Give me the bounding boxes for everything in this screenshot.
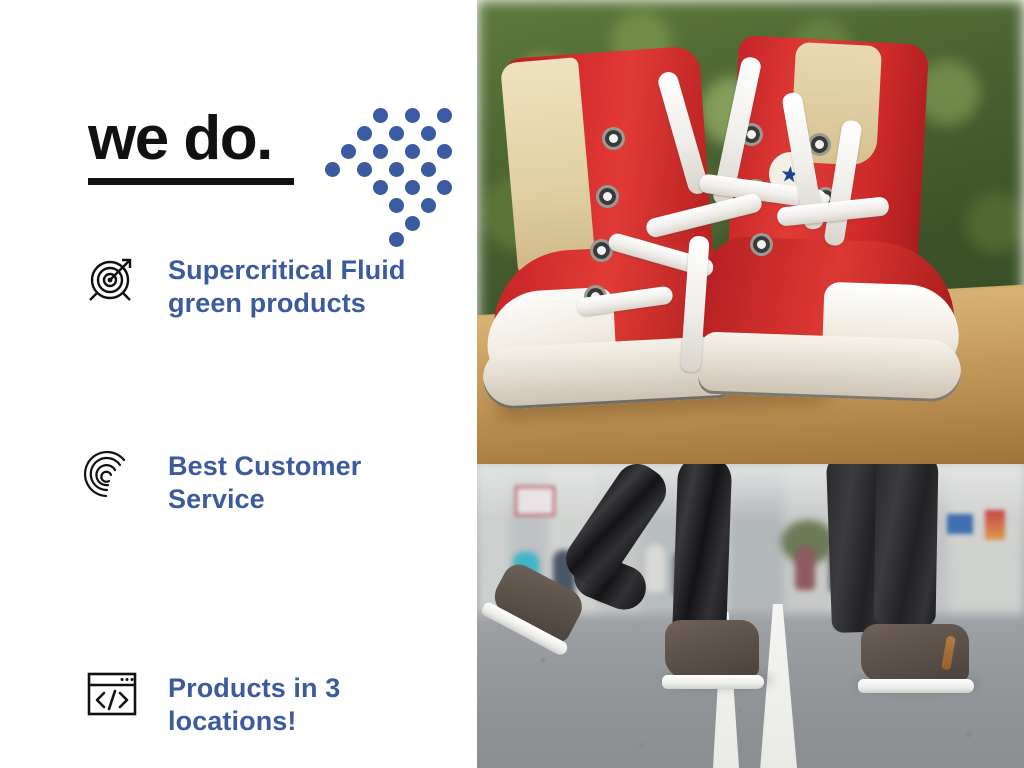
pedestrian-blur <box>645 544 665 592</box>
feature-label-line: Service <box>168 483 361 516</box>
brand-underline <box>88 178 294 185</box>
red-banner-blur <box>985 510 1005 540</box>
feature-label-line: locations! <box>168 705 340 738</box>
feature-label-line: Products in 3 <box>168 672 340 705</box>
target-arrow-icon <box>82 248 142 308</box>
red-sneakers-photo: ★ <box>477 0 1024 464</box>
blue-street-sign-blur <box>947 514 973 534</box>
dot-arrow-logo-icon <box>329 104 454 229</box>
feature-row: Supercritical Fluid green products <box>82 248 472 320</box>
brand-block: we do. <box>88 108 458 218</box>
feature-row: Products in 3 locations! <box>82 664 472 738</box>
feature-label-line: Supercritical Fluid <box>168 254 405 287</box>
feature-row: Best Customer Service <box>82 444 472 516</box>
ear-soundwave-icon <box>82 444 142 504</box>
media-column: ★ <box>477 0 1024 768</box>
pedestrian-blur <box>795 546 815 590</box>
grey-sneaker-man <box>861 624 969 682</box>
feature-label: Supercritical Fluid green products <box>168 248 405 320</box>
brand-wordmark: we do. <box>88 108 272 170</box>
code-window-icon <box>82 664 142 724</box>
shop-sign-blur <box>515 486 555 516</box>
slide-root: we do. <box>0 0 1024 768</box>
feature-label-line: Best Customer <box>168 450 361 483</box>
left-content-panel: we do. <box>0 0 477 768</box>
street-walkers-photo <box>477 464 1024 768</box>
sky-haze <box>477 464 1024 520</box>
man-right-leg <box>874 464 939 627</box>
brown-sneaker-standing <box>665 620 759 678</box>
feature-label-line: green products <box>168 287 405 320</box>
feature-label: Products in 3 locations! <box>168 664 340 738</box>
feature-label: Best Customer Service <box>168 444 361 516</box>
